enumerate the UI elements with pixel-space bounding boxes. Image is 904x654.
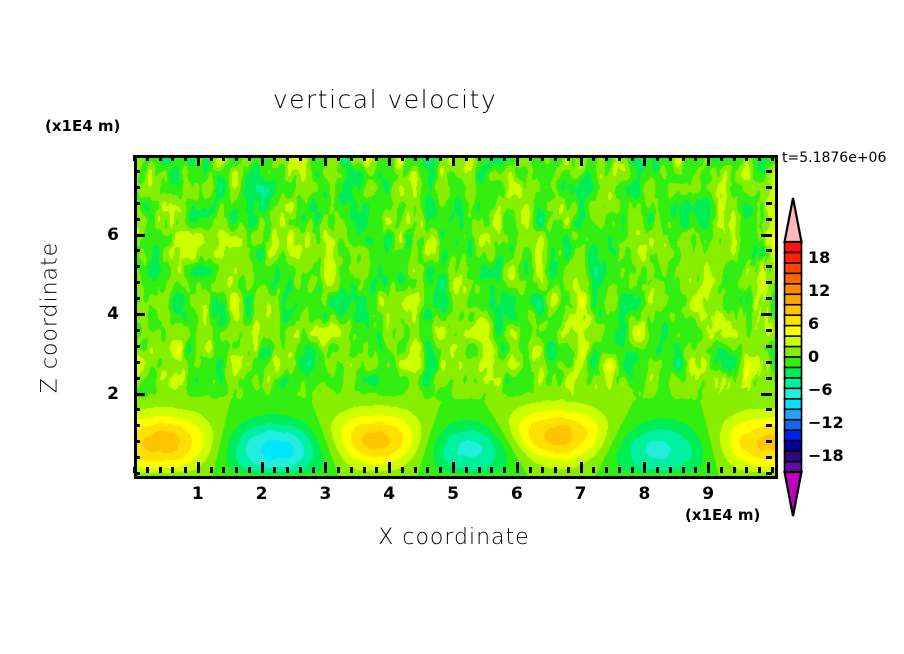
colorbar-band xyxy=(785,388,802,399)
y-tick-minor xyxy=(134,281,140,284)
colorbar-band xyxy=(785,242,802,253)
x-tick-minor-top xyxy=(605,155,608,161)
x-axis-title: X coordinate xyxy=(234,525,674,550)
y-tick-major-right xyxy=(761,313,772,316)
x-tick-minor xyxy=(426,467,429,473)
x-tick-minor-top xyxy=(299,155,302,161)
x-tick-minor-top xyxy=(222,155,225,161)
y-tick-minor xyxy=(134,456,140,459)
x-tick-major xyxy=(516,462,519,473)
x-tick-minor xyxy=(337,467,340,473)
y-tick-minor xyxy=(134,186,140,189)
y-tick-minor-right xyxy=(766,408,772,411)
x-tick-major xyxy=(580,462,583,473)
x-tick-minor-top xyxy=(669,155,672,161)
x-tick-minor xyxy=(694,467,697,473)
x-tick-minor xyxy=(222,467,225,473)
y-tick-minor-right xyxy=(766,265,772,268)
colorbar-band xyxy=(785,347,802,358)
y-tick-minor xyxy=(134,202,140,205)
x-tick-minor-top xyxy=(592,155,595,161)
x-tick-minor-top xyxy=(286,155,289,161)
x-tick-minor-top xyxy=(210,155,213,161)
y-tick-minor xyxy=(134,329,140,332)
x-tick-major-top xyxy=(643,155,646,166)
x-tick-minor xyxy=(375,467,378,473)
x-tick-minor-top xyxy=(337,155,340,161)
x-tick-minor-top xyxy=(745,155,748,161)
x-tick-minor-top xyxy=(133,155,136,161)
x-tick-minor xyxy=(682,467,685,473)
colorbar-band xyxy=(785,367,802,378)
y-tick-minor-right xyxy=(766,456,772,459)
x-tick-minor-top xyxy=(414,155,417,161)
x-tick-minor-top xyxy=(554,155,557,161)
x-tick-major-top xyxy=(516,155,519,166)
x-tick-major xyxy=(261,462,264,473)
colorbar-band xyxy=(785,263,802,274)
y-tick-minor xyxy=(134,440,140,443)
y-tick-minor xyxy=(134,408,140,411)
colorbar-tick-label: −6 xyxy=(808,380,833,399)
y-tick-major xyxy=(134,393,145,396)
x-tick-minor-top xyxy=(426,155,429,161)
x-tick-minor-top xyxy=(682,155,685,161)
y-tick-minor-right xyxy=(766,281,772,284)
x-tick-minor xyxy=(235,467,238,473)
colorbar-tick-label: 0 xyxy=(808,347,819,366)
x-tick-minor-top xyxy=(720,155,723,161)
y-tick-major xyxy=(134,313,145,316)
x-tick-minor-top xyxy=(184,155,187,161)
x-tick-minor-top xyxy=(273,155,276,161)
colorbar-band xyxy=(785,252,802,263)
x-tick-minor xyxy=(490,467,493,473)
x-tick-minor xyxy=(567,467,570,473)
x-tick-major-top xyxy=(388,155,391,166)
colorbar-band xyxy=(785,441,802,452)
colorbar-band xyxy=(785,336,802,347)
x-tick-minor xyxy=(733,467,736,473)
y-tick-minor xyxy=(134,361,140,364)
x-tick-label: 6 xyxy=(502,484,532,504)
x-tick-major xyxy=(324,462,327,473)
x-tick-minor-top xyxy=(312,155,315,161)
x-tick-minor-top xyxy=(541,155,544,161)
x-tick-major xyxy=(388,462,391,473)
y-tick-minor-right xyxy=(766,170,772,173)
colorbar-band xyxy=(785,451,802,462)
x-tick-minor xyxy=(592,467,595,473)
x-tick-major-top xyxy=(324,155,327,166)
y-tick-minor xyxy=(134,265,140,268)
y-tick-minor-right xyxy=(766,440,772,443)
x-tick-minor xyxy=(758,467,761,473)
x-tick-minor-top xyxy=(401,155,404,161)
colorbar-band xyxy=(785,284,802,295)
y-tick-minor-right xyxy=(766,202,772,205)
x-tick-major xyxy=(197,462,200,473)
x-tick-minor-top xyxy=(235,155,238,161)
x-tick-major-top xyxy=(580,155,583,166)
y-tick-minor xyxy=(134,377,140,380)
y-tick-minor-right xyxy=(766,361,772,364)
x-tick-minor xyxy=(146,467,149,473)
colorbar-band xyxy=(785,326,802,337)
colorbar-band xyxy=(785,378,802,389)
x-tick-minor-top xyxy=(248,155,251,161)
x-tick-minor xyxy=(720,467,723,473)
y-tick-minor-right xyxy=(766,249,772,252)
page-title: vertical velocity xyxy=(0,85,770,114)
x-tick-minor xyxy=(529,467,532,473)
colorbar-band xyxy=(785,357,802,368)
x-tick-minor xyxy=(465,467,468,473)
x-tick-minor-top xyxy=(656,155,659,161)
x-tick-minor-top xyxy=(529,155,532,161)
colorbar-tick-label: −12 xyxy=(808,413,844,432)
y-tick-label: 2 xyxy=(89,384,119,404)
colorbar-band xyxy=(785,420,802,431)
colorbar xyxy=(778,196,808,518)
x-tick-minor-top xyxy=(503,155,506,161)
x-tick-minor xyxy=(478,467,481,473)
y-tick-minor-right xyxy=(766,329,772,332)
x-tick-minor-top xyxy=(146,155,149,161)
x-tick-minor xyxy=(286,467,289,473)
x-tick-label: 8 xyxy=(629,484,659,504)
x-tick-minor xyxy=(171,467,174,473)
velocity-field-heatmap xyxy=(137,158,775,476)
x-tick-minor-top xyxy=(350,155,353,161)
x-tick-minor-top xyxy=(478,155,481,161)
colorbar-band xyxy=(785,273,802,284)
x-tick-minor xyxy=(401,467,404,473)
z-axis-title: Z coordinate xyxy=(38,198,63,438)
x-tick-label: 5 xyxy=(438,484,468,504)
x-tick-major-top xyxy=(707,155,710,166)
y-tick-major xyxy=(134,234,145,237)
x-tick-minor-top xyxy=(618,155,621,161)
x-tick-minor xyxy=(554,467,557,473)
plot-area xyxy=(134,155,778,479)
colorbar-tick-label: 18 xyxy=(808,248,830,267)
y-tick-minor xyxy=(134,424,140,427)
x-tick-minor xyxy=(210,467,213,473)
colorbar-cap-top xyxy=(785,198,802,242)
y-tick-minor-right xyxy=(766,186,772,189)
colorbar-band xyxy=(785,305,802,316)
x-axis-unit-label: (x1E4 m) xyxy=(685,506,760,524)
x-tick-label: 7 xyxy=(566,484,596,504)
y-tick-major-right xyxy=(761,234,772,237)
x-tick-minor xyxy=(248,467,251,473)
x-tick-minor xyxy=(439,467,442,473)
colorbar-tick-label: −18 xyxy=(808,446,844,465)
y-tick-minor-right xyxy=(766,424,772,427)
colorbar-band xyxy=(785,294,802,305)
x-tick-minor-top xyxy=(694,155,697,161)
x-tick-minor-top xyxy=(631,155,634,161)
x-tick-minor xyxy=(350,467,353,473)
x-tick-major-top xyxy=(452,155,455,166)
x-tick-major-top xyxy=(261,155,264,166)
x-tick-minor xyxy=(618,467,621,473)
x-tick-major xyxy=(643,462,646,473)
x-tick-major-top xyxy=(197,155,200,166)
y-tick-label: 4 xyxy=(89,304,119,324)
y-tick-minor-right xyxy=(766,472,772,475)
x-tick-minor xyxy=(656,467,659,473)
x-tick-major xyxy=(707,462,710,473)
x-tick-label: 1 xyxy=(183,484,213,504)
y-tick-minor-right xyxy=(766,345,772,348)
x-tick-minor xyxy=(312,467,315,473)
x-tick-major xyxy=(452,462,455,473)
y-tick-minor xyxy=(134,297,140,300)
x-tick-minor-top xyxy=(771,155,774,161)
y-tick-minor-right xyxy=(766,377,772,380)
x-tick-minor-top xyxy=(758,155,761,161)
x-tick-minor xyxy=(745,467,748,473)
y-tick-minor xyxy=(134,170,140,173)
x-tick-minor-top xyxy=(567,155,570,161)
x-tick-minor xyxy=(414,467,417,473)
x-tick-minor xyxy=(669,467,672,473)
colorbar-band xyxy=(785,315,802,326)
x-tick-label: 9 xyxy=(693,484,723,504)
y-axis-unit-label: (x1E4 m) xyxy=(45,117,120,135)
y-tick-minor xyxy=(134,218,140,221)
y-tick-minor xyxy=(134,472,140,475)
y-tick-minor xyxy=(134,345,140,348)
x-tick-label: 2 xyxy=(247,484,277,504)
x-tick-minor-top xyxy=(733,155,736,161)
y-tick-major-right xyxy=(761,393,772,396)
y-tick-minor xyxy=(134,249,140,252)
colorbar-band xyxy=(785,399,802,410)
x-tick-minor xyxy=(363,467,366,473)
x-tick-minor xyxy=(273,467,276,473)
x-tick-minor xyxy=(184,467,187,473)
x-tick-minor-top xyxy=(171,155,174,161)
colorbar-tick-label: 12 xyxy=(808,281,830,300)
x-tick-minor-top xyxy=(159,155,162,161)
x-tick-minor xyxy=(631,467,634,473)
x-tick-minor xyxy=(605,467,608,473)
time-annotation: t=5.1876e+06 xyxy=(782,150,886,166)
x-tick-minor xyxy=(503,467,506,473)
colorbar-band xyxy=(785,409,802,420)
x-tick-minor xyxy=(299,467,302,473)
colorbar-swatches xyxy=(778,196,808,518)
colorbar-cap-bottom xyxy=(785,472,802,516)
x-tick-minor xyxy=(541,467,544,473)
x-tick-minor-top xyxy=(375,155,378,161)
x-tick-minor xyxy=(159,467,162,473)
x-tick-minor-top xyxy=(490,155,493,161)
x-tick-minor-top xyxy=(363,155,366,161)
colorbar-tick-label: 6 xyxy=(808,314,819,333)
x-tick-label: 4 xyxy=(374,484,404,504)
x-tick-minor-top xyxy=(465,155,468,161)
colorbar-band xyxy=(785,430,802,441)
y-tick-label: 6 xyxy=(89,225,119,245)
x-tick-label: 3 xyxy=(310,484,340,504)
y-tick-minor-right xyxy=(766,297,772,300)
x-tick-minor-top xyxy=(439,155,442,161)
y-tick-minor-right xyxy=(766,218,772,221)
